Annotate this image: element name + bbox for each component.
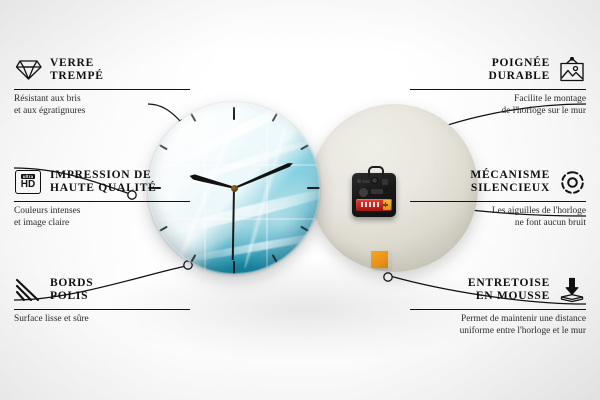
callout-node-entretoise <box>384 273 392 281</box>
feature-divider <box>14 309 190 310</box>
feature-divider <box>14 89 190 90</box>
diamond-icon <box>14 56 42 84</box>
feature-mecanisme-silencieux: MÉCANISME SILENCIEUX Les aiguilles de l'… <box>410 168 586 229</box>
battery <box>356 199 392 211</box>
mechanism-detail <box>357 179 361 183</box>
ultra-hd-icon: ultra HD <box>14 168 42 196</box>
feature-title: ENTRETOISE EN MOUSSE <box>468 277 550 302</box>
foam-spacer-side <box>388 254 392 271</box>
feature-bords-polis: BORDS POLIS Surface lisse et sûre <box>14 276 190 326</box>
feature-poignee-durable: POIGNÉE DURABLE Facilite le montage de l… <box>410 56 586 117</box>
gear-icon <box>558 168 586 196</box>
feature-verre-trempe: VERRE TREMPÉ Résistant aux bris et aux é… <box>14 56 190 117</box>
picture-frame-hanger-icon <box>558 56 586 84</box>
feature-description: Les aiguilles de l'horloge ne font aucun… <box>410 206 586 228</box>
feature-title: MÉCANISME SILENCIEUX <box>470 169 550 194</box>
feature-description: Permet de maintenir une distance uniform… <box>410 314 586 336</box>
feature-title: BORDS POLIS <box>50 277 93 302</box>
mechanism-detail <box>359 188 368 197</box>
battery-plus-icon <box>383 204 388 206</box>
infographic-canvas: VERRE TREMPÉ Résistant aux bris et aux é… <box>0 0 600 400</box>
battery-label <box>361 202 381 207</box>
foam-spacer-arrow-icon <box>558 276 586 304</box>
feature-title: VERRE TREMPÉ <box>50 57 104 82</box>
feature-divider <box>410 309 586 310</box>
feature-title: IMPRESSION DE HAUTE QUALITÉ <box>50 169 157 194</box>
mechanism-hanger-icon <box>368 166 384 177</box>
feature-entretoise-en-mousse: ENTRETOISE EN MOUSSE Permet de maintenir… <box>410 276 586 337</box>
feature-divider <box>14 201 190 202</box>
mechanism-detail <box>362 180 370 183</box>
feature-divider <box>410 89 586 90</box>
mechanism-detail <box>382 179 388 185</box>
feature-description: Facilite le montage de l'horloge sur le … <box>410 94 586 116</box>
feature-impression-haute-qualite: ultra HD IMPRESSION DE HAUTE QUALITÉ Cou… <box>14 168 190 229</box>
mechanism-shaft <box>371 177 378 184</box>
feature-description: Couleurs intenses et image claire <box>14 206 190 228</box>
battery-positive-terminal <box>383 200 391 210</box>
foam-spacer <box>371 251 388 268</box>
clock-mechanism <box>352 173 396 217</box>
feature-divider <box>410 201 586 202</box>
feature-title: POIGNÉE DURABLE <box>489 57 550 82</box>
mechanism-detail <box>371 189 383 194</box>
feature-description: Surface lisse et sûre <box>14 314 190 325</box>
polished-edges-icon <box>14 276 42 304</box>
feature-description: Résistant aux bris et aux égratignures <box>14 94 190 116</box>
